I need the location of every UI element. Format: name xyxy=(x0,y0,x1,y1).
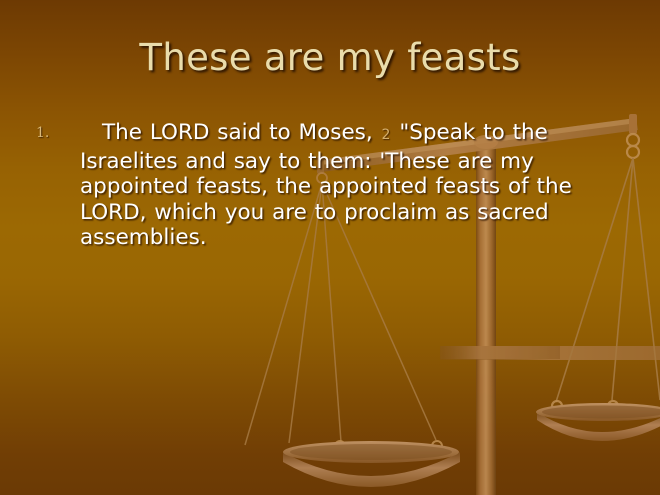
list-item-text: The LORD said to Moses, 2 "Speak to the … xyxy=(80,120,626,251)
list-item: 1. The LORD said to Moses, 2 "Speak to t… xyxy=(36,120,626,251)
presentation-slide: These are my feasts 1. The LORD said to … xyxy=(0,0,660,495)
list-item-number: 1. xyxy=(36,126,49,140)
scripture-leading-text: The LORD said to Moses, xyxy=(102,120,373,145)
verse-number-marker: 2 xyxy=(381,127,392,143)
slide-body: 1. The LORD said to Moses, 2 "Speak to t… xyxy=(36,120,626,251)
page-title: These are my feasts xyxy=(0,36,660,80)
